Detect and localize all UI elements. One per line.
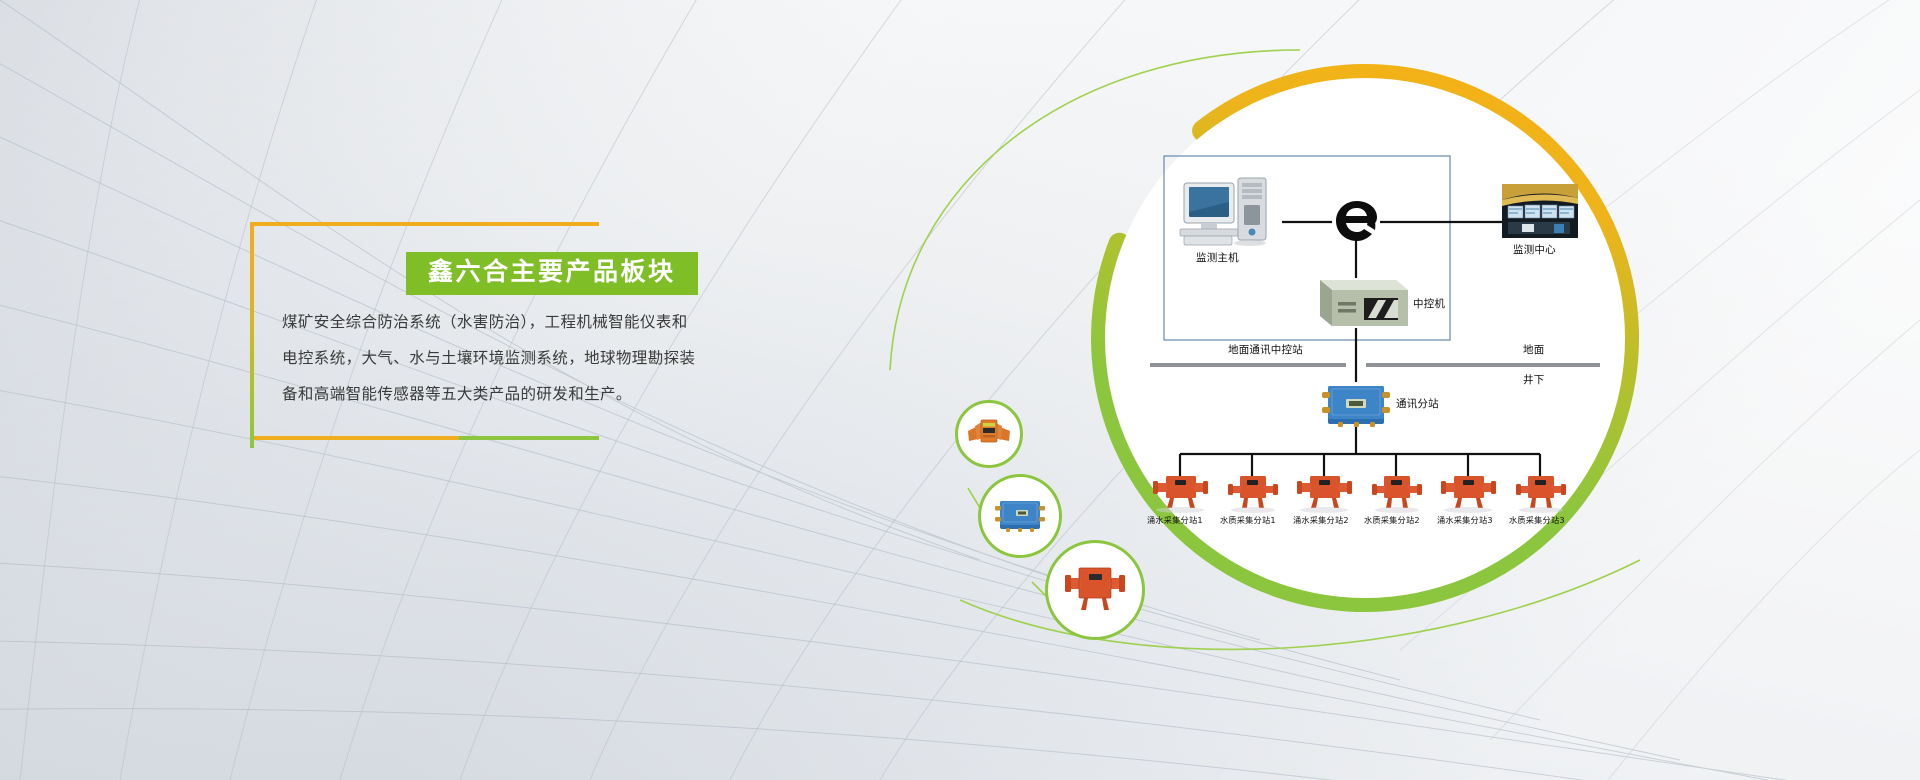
monitor-host-icon xyxy=(1180,178,1266,246)
label-underground: 井下 xyxy=(1523,372,1544,387)
station-device-4 xyxy=(1372,476,1422,513)
system-architecture-diagram: 监测主机 监测中心 中控机 地面通讯中控站 地面 井下 通讯分站 涌水采集分站1… xyxy=(1150,150,1600,570)
station-device-1 xyxy=(1153,476,1208,513)
label-surface: 地面 xyxy=(1523,342,1544,357)
station-device-3 xyxy=(1297,476,1352,513)
central-controller-icon xyxy=(1320,280,1408,326)
label-station-1: 涌水采集分站1 xyxy=(1147,514,1203,526)
bubble-blue-junction-box[interactable] xyxy=(978,474,1062,558)
monitoring-center-icon xyxy=(1502,184,1578,238)
comm-substation-icon xyxy=(1322,386,1390,427)
label-station-2: 水质采集分站1 xyxy=(1220,514,1276,526)
page-title-banner: 鑫六合主要产品板块 xyxy=(406,252,698,295)
diagram-lines-and-nodes xyxy=(1150,150,1600,570)
page-title: 鑫六合主要产品板块 xyxy=(428,258,676,286)
orange-explosion-proof-device-icon xyxy=(966,417,1012,451)
station-device-5 xyxy=(1441,476,1496,513)
label-monitor-center: 监测中心 xyxy=(1513,242,1556,257)
station-device-6 xyxy=(1516,476,1566,513)
description-line-1: 煤矿安全综合防治系统（水害防治），工程机械智能仪表和 xyxy=(282,305,712,341)
bubble-red-flow-meter[interactable] xyxy=(1045,540,1145,640)
label-comm-substation: 通讯分站 xyxy=(1396,396,1439,411)
station-device-2 xyxy=(1228,476,1278,513)
blue-junction-box-icon xyxy=(991,495,1049,537)
label-monitor-host: 监测主机 xyxy=(1196,250,1239,265)
description-line-2: 电控系统，大气、水与土壤环境监测系统，地球物理勘探装 xyxy=(282,341,712,377)
red-flow-meter-icon xyxy=(1057,562,1133,618)
label-station-3: 涌水采集分站2 xyxy=(1293,514,1349,526)
label-station-5: 涌水采集分站3 xyxy=(1437,514,1493,526)
label-ground-station-box: 地面通讯中控站 xyxy=(1228,342,1303,357)
bubble-orange-sensor-device[interactable] xyxy=(955,400,1023,468)
frame-top-right-segment xyxy=(439,222,599,226)
description-line-3: 备和高端智能传感器等五大类产品的研发和生产。 xyxy=(282,377,712,413)
label-station-4: 水质采集分站2 xyxy=(1364,514,1420,526)
e-network-icon xyxy=(1336,201,1377,241)
label-central-controller: 中控机 xyxy=(1413,296,1445,311)
product-description: 煤矿安全综合防治系统（水害防治），工程机械智能仪表和 电控系统，大气、水与土壤环… xyxy=(282,305,712,413)
label-station-6: 水质采集分站3 xyxy=(1509,514,1565,526)
